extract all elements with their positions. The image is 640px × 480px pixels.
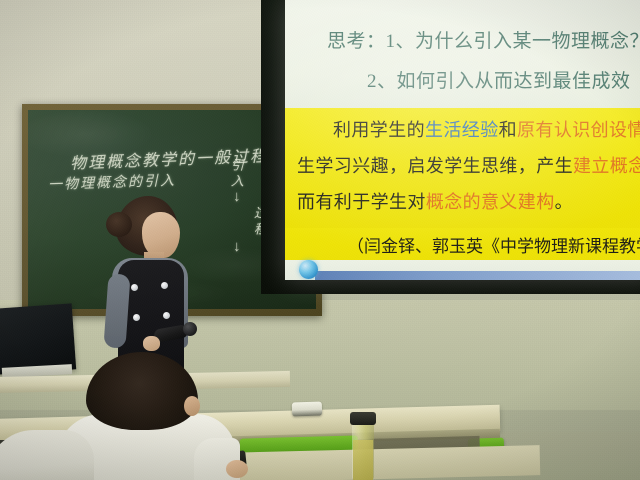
presenter-hand [143, 336, 160, 351]
hl1-seg2: 生活经验 [425, 120, 499, 140]
hl2-seg2: 建立概念的 [573, 156, 640, 176]
hl1-seg1: 利用学生的 [333, 120, 425, 140]
hl1-seg3: 和 [499, 120, 517, 140]
hl3-seg1: 而有利于学生对 [297, 192, 426, 212]
slide-citation: （闫金铎、郭玉英《中学物理新课程教学 [347, 232, 640, 257]
projection-screen: 思考：1、为什么引入某一物理概念？ 2、如何引入从而达到最佳成效 利用学生的生活… [285, 0, 640, 280]
student-second-torso [0, 430, 94, 480]
vest-button [131, 284, 138, 291]
chalk-arrow-2: ↓ [233, 238, 241, 255]
vest-button [133, 314, 140, 321]
chalk-arrow-1: ↓ [233, 188, 241, 205]
water-bottle-cap [350, 412, 376, 425]
chalk-line-3: 引入 [228, 158, 243, 190]
slide-footer [285, 260, 640, 280]
slide-highlight-block: 利用学生的生活经验和原有认识创设情境 生学习兴趣，启发学生思维，产生建立概念的 … [285, 108, 640, 228]
slide-citation-row: （闫金铎、郭玉英《中学物理新课程教学 [285, 228, 640, 260]
hl3-seg2: 概念的意义建构 [426, 192, 555, 212]
slide-question-2: 2、如何引入从而达到最佳成效 [367, 66, 631, 93]
slide-highlight-line-3: 而有利于学生对概念的意义建构。 [297, 188, 573, 214]
student-hair [86, 352, 198, 430]
microphone-head [183, 322, 197, 336]
slide-highlight-line-1: 利用学生的生活经验和原有认识创设情境 [333, 116, 640, 142]
vest-button [163, 312, 170, 319]
slide-top-section: 思考：1、为什么引入某一物理概念？ 2、如何引入从而达到最佳成效 [285, 0, 640, 108]
slide-question-1: 思考：1、为什么引入某一物理概念？ [327, 26, 640, 53]
classroom-scene: 物理概念教学的一般过程 一物理概念的引入 引入 ↓ 过程 ↓ 思考：1、为什么引… [0, 0, 640, 480]
chalk-eraser [292, 401, 322, 416]
student-ear [184, 396, 200, 416]
projection-screen-frame: 思考：1、为什么引入某一物理概念？ 2、如何引入从而达到最佳成效 利用学生的生活… [261, 0, 640, 294]
slide-accent-bar [315, 271, 640, 280]
hl3-seg3: 。 [555, 192, 573, 212]
hl2-seg1: 生学习兴趣，启发学生思维，产生 [297, 156, 573, 176]
student-hand [226, 460, 248, 478]
presenter-hair-bun [106, 212, 132, 237]
vest-button [161, 282, 168, 289]
hl1-seg4: 原有认识创设情境 [517, 120, 640, 140]
globe-icon [299, 260, 318, 279]
slide-highlight-line-2: 生学习兴趣，启发学生思维，产生建立概念的 [297, 152, 640, 178]
water-bottle-contents [353, 440, 373, 480]
student-second-row [0, 426, 96, 480]
